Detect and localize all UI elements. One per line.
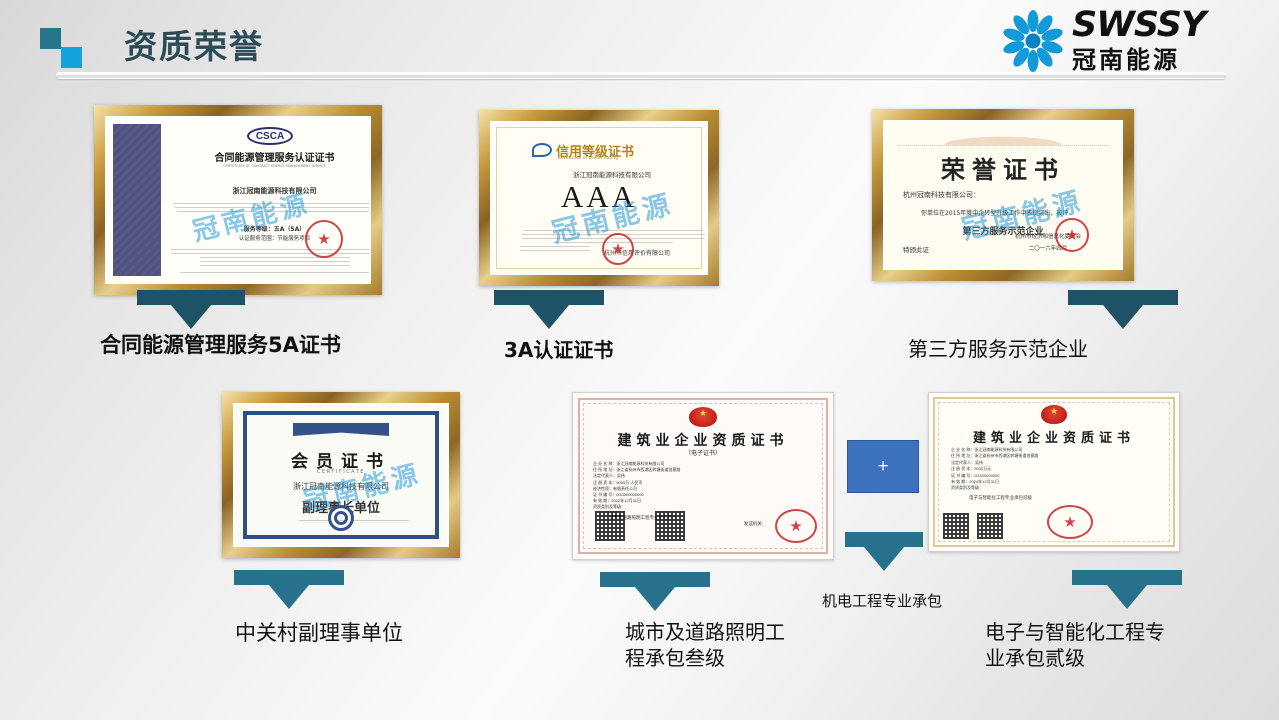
certificate-card-third-party[interactable]: 荣誉证书 杭州冠南科技有限公司： 你单位在2015年度中企转型升级工作中表现突出… bbox=[872, 109, 1134, 281]
red-seal-icon bbox=[1047, 505, 1093, 539]
national-emblem-icon bbox=[1041, 405, 1067, 424]
qr-code-left-icon bbox=[943, 513, 969, 539]
certificate-company: 浙江冠南能源科技有限公司 bbox=[522, 169, 702, 179]
certificate-scope: 电子与智能化工程专业承包贰级 bbox=[969, 495, 1163, 501]
certificate-title: 荣誉证书 bbox=[885, 150, 1121, 185]
field-row: 资质类别及等级： bbox=[593, 504, 815, 510]
decoration-square-light bbox=[61, 47, 82, 68]
certificate-card-electronic[interactable]: 建筑业企业资质证书 企 业 名 称：浙江冠南能源科技有限公司 住 所 地 址：浙… bbox=[928, 392, 1180, 552]
plain-frame: 建筑业企业资质证书 企 业 名 称：浙江冠南能源科技有限公司 住 所 地 址：浙… bbox=[928, 392, 1180, 552]
fine-print-lines bbox=[169, 246, 371, 269]
csca-logo-icon: CSCA bbox=[247, 127, 293, 145]
certificate-paper: 荣誉证书 杭州冠南科技有限公司： 你单位在2015年度中企转型升级工作中表现突出… bbox=[885, 122, 1121, 268]
certificate-body: 你单位在2015年度中企转型升级工作中表现突出，被评 bbox=[921, 208, 1123, 217]
footer-lines bbox=[169, 269, 371, 276]
certificate-paper: 会员证书 CERTIFICATE 浙江冠南能源科技有限公司 副理事长单位 冠南能… bbox=[235, 405, 447, 545]
qr-code-left-icon bbox=[595, 511, 625, 541]
certificate-card-3a[interactable]: 信用等级证书 Certificate of Credit Rating 浙江冠南… bbox=[479, 110, 719, 286]
red-seal-icon bbox=[1055, 218, 1089, 252]
pointer-banner-5a bbox=[137, 290, 245, 329]
certificate-title: 合同能源管理服务认证证书 bbox=[167, 149, 371, 164]
certificate-title: 建筑业企业资质证书 bbox=[573, 430, 833, 450]
logo-wordmark: SWSSY bbox=[1072, 8, 1262, 43]
caption-member: 中关村副理事单位 bbox=[235, 620, 403, 647]
red-seal-icon bbox=[775, 509, 817, 543]
certificate-paper: 信用等级证书 Certificate of Credit Rating 浙江冠南… bbox=[492, 123, 706, 273]
flower-droplet-emblem-icon bbox=[1000, 8, 1066, 74]
gold-frame: 荣誉证书 杭州冠南科技有限公司： 你单位在2015年度中企转型升级工作中表现突出… bbox=[872, 109, 1134, 281]
caption-electronic: 电子与智能化工程专 业承包贰级 bbox=[985, 620, 1165, 671]
certificate-issuer: 杭州市经济和信息化委员会 bbox=[989, 232, 1107, 240]
qr-code-right-icon bbox=[977, 513, 1003, 539]
certificate-paper: 建筑业企业资质证书 （电子证书） 企 业 名 称：浙江冠南能源科技有限公司 住 … bbox=[573, 393, 833, 559]
certificate-date: 二〇一六年四月 bbox=[993, 244, 1103, 252]
certificate-company: 浙江冠南能源科技有限公司 bbox=[235, 481, 447, 492]
body-text-lines bbox=[289, 517, 419, 524]
certificate-card-lighting[interactable]: 建筑业企业资质证书 （电子证书） 企 业 名 称：浙江冠南能源科技有限公司 住 … bbox=[572, 392, 834, 560]
certificate-subtitle: Certificate of Credit Rating bbox=[558, 156, 698, 161]
caption-third-party: 第三方服务示范企业 bbox=[908, 337, 1088, 363]
credit-logo-icon bbox=[532, 143, 552, 157]
qr-code-right-icon bbox=[655, 511, 685, 541]
pointer-banner-member bbox=[234, 570, 344, 609]
gold-frame: CSCA 合同能源管理服务认证证书 CERTIFICATE OF CONTRAC… bbox=[94, 105, 382, 295]
certificate-grade: AAA bbox=[492, 179, 706, 215]
body-text-lines bbox=[169, 200, 371, 215]
pointer-banner-third-party bbox=[1068, 290, 1178, 329]
caption-3a: 3A认证证书 bbox=[504, 338, 613, 364]
side-band bbox=[113, 124, 161, 276]
certificate-card-member[interactable]: 会员证书 CERTIFICATE 浙江冠南能源科技有限公司 副理事长单位 冠南能… bbox=[222, 392, 460, 558]
company-logo: SWSSY 冠南能源 bbox=[1000, 6, 1265, 76]
pointer-banner-mechanical bbox=[845, 532, 923, 571]
decoration-square-dark bbox=[40, 28, 61, 49]
add-button[interactable]: + bbox=[847, 440, 919, 493]
certificate-note: 特颁此证 bbox=[903, 244, 963, 254]
field-row: 资质类别及等级： bbox=[951, 485, 1163, 491]
certificate-fields: 企 业 名 称：浙江冠南能源科技有限公司 住 所 地 址：浙江省杭州市西湖区转塘… bbox=[593, 461, 815, 511]
ring-emblem-icon bbox=[328, 505, 354, 531]
certificate-subtitle: （电子证书） bbox=[573, 448, 833, 457]
caption-5a: 合同能源管理服务5A证书 bbox=[100, 332, 341, 359]
gold-frame: 信用等级证书 Certificate of Credit Rating 浙江冠南… bbox=[479, 110, 719, 286]
pointer-banner-lighting bbox=[600, 572, 710, 611]
certificate-paper: 建筑业企业资质证书 企 业 名 称：浙江冠南能源科技有限公司 住 所 地 址：浙… bbox=[929, 393, 1179, 551]
plain-frame: 建筑业企业资质证书 （电子证书） 企 业 名 称：浙江冠南能源科技有限公司 住 … bbox=[572, 392, 834, 560]
red-seal-icon bbox=[305, 220, 343, 258]
logo-chinese-name: 冠南能源 bbox=[1072, 45, 1262, 75]
floral-ornament-icon bbox=[897, 130, 1109, 146]
caption-lighting: 城市及道路照明工 程承包叁级 bbox=[625, 620, 785, 671]
caption-mechanical: 机电工程专业承包 bbox=[822, 592, 942, 611]
certificate-subtitle: CERTIFICATE bbox=[235, 469, 447, 475]
certificate-issuer: 杭州市信用评价有限公司 bbox=[572, 248, 702, 257]
page-title: 资质荣誉 bbox=[124, 20, 264, 68]
red-seal-icon bbox=[602, 233, 634, 265]
certificate-title: 建筑业企业资质证书 bbox=[929, 427, 1179, 446]
national-emblem-icon bbox=[689, 407, 717, 427]
certificate-fields: 企 业 名 称：浙江冠南能源科技有限公司 住 所 地 址：浙江省杭州市西湖区转塘… bbox=[951, 447, 1163, 492]
certificate-subtitle: CERTIFICATE OF CONTRACT ENERGY MANAGEMEN… bbox=[167, 164, 371, 168]
certificate-card-5a[interactable]: CSCA 合同能源管理服务认证证书 CERTIFICATE OF CONTRAC… bbox=[94, 105, 382, 295]
page-header: 资质荣誉 bbox=[0, 0, 1279, 92]
pointer-banner-electronic bbox=[1072, 570, 1182, 609]
certificate-paper: CSCA 合同能源管理服务认证证书 CERTIFICATE OF CONTRAC… bbox=[107, 118, 369, 282]
pointer-banner-3a bbox=[494, 290, 604, 329]
gold-frame: 会员证书 CERTIFICATE 浙江冠南能源科技有限公司 副理事长单位 冠南能… bbox=[222, 392, 460, 558]
certificate-company: 浙江冠南能源科技有限公司 bbox=[167, 186, 371, 196]
header-decoration bbox=[40, 28, 90, 70]
certificate-company: 杭州冠南科技有限公司： bbox=[903, 190, 1103, 200]
